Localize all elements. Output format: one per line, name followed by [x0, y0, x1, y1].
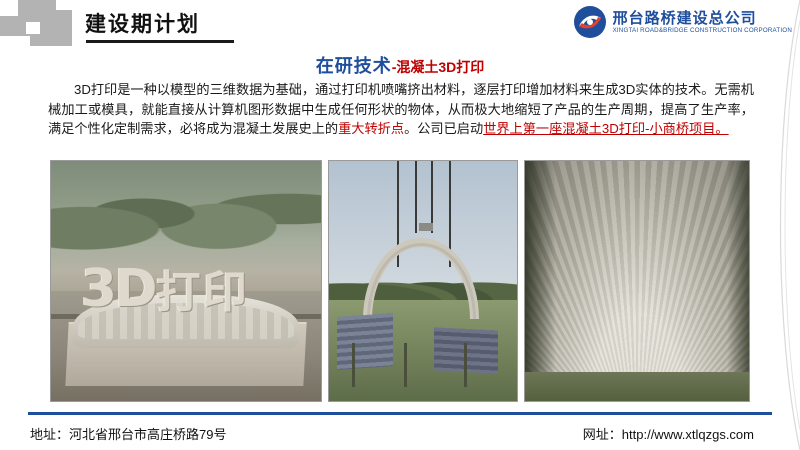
company-name-cn: 邢台路桥建设总公司	[613, 10, 792, 27]
page-title: 建设期计划	[85, 8, 200, 38]
paragraph-segment-3: 。公司已启动	[404, 121, 483, 136]
section-subtitle: 在研技术-混凝土3D打印	[0, 52, 800, 78]
body-paragraph: 3D打印是一种以模型的三维数据为基础，通过打印机喷嘴挤出材料，逐层打印增加材料来…	[48, 80, 754, 139]
photo-3d-printed-concrete-letters: 3 D 打 印	[50, 160, 322, 402]
concrete-letters: 3 D 打 印	[81, 243, 292, 315]
photo-row: 3 D 打 印	[50, 160, 750, 402]
paragraph-highlight-project: 世界上第一座混凝土3D打印-小商桥项目。	[483, 121, 728, 136]
company-swirl-logo-icon	[573, 5, 607, 39]
footer-address: 地址：河北省邢台市高庄桥路79号	[30, 424, 226, 443]
footer-address-value: 河北省邢台市高庄桥路79号	[69, 427, 226, 442]
title-underline	[86, 40, 234, 43]
header-decor-block	[0, 0, 72, 46]
footer-address-label: 地址：	[30, 427, 69, 442]
photo-printed-concrete-texture	[524, 160, 750, 402]
paragraph-highlight-turning-point: 重大转折点	[338, 121, 404, 136]
footer-website: 网址：http://www.xtlqzgs.com	[583, 424, 754, 443]
company-logo: 邢台路桥建设总公司 XINGTAI ROAD&BRIDGE CONSTRUCTI…	[573, 5, 792, 39]
company-name-en: XINGTAI ROAD&BRIDGE CONSTRUCTION CORPORA…	[613, 27, 792, 35]
subtitle-sub: -混凝土3D打印	[392, 59, 485, 75]
slide-canvas: 建设期计划 邢台路桥建设总公司 XINGTAI ROAD&BRIDGE CONS…	[0, 0, 800, 450]
photo-arch-segment-lifting	[328, 160, 518, 402]
footer-bar	[0, 444, 800, 450]
subtitle-main: 在研技术	[316, 56, 392, 76]
footer-website-label: 网址：	[583, 427, 622, 442]
slide-header: 建设期计划 邢台路桥建设总公司 XINGTAI ROAD&BRIDGE CONS…	[0, 0, 800, 46]
footer-website-value: http://www.xtlqzgs.com	[622, 427, 754, 442]
footer-divider	[28, 412, 772, 415]
